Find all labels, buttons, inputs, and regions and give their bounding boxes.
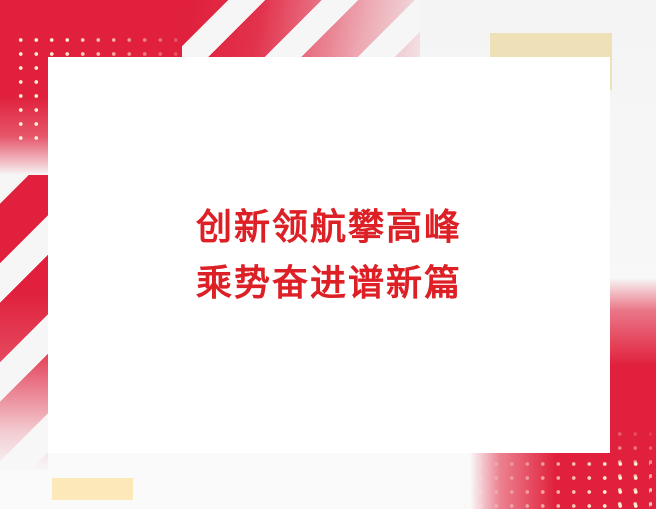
gold-chip-decoration bbox=[52, 478, 133, 500]
page-title-line-1: 创新领航攀高峰 bbox=[196, 199, 462, 255]
dot-grid-right-edge-icon bbox=[610, 425, 652, 509]
slide-canvas: 创新领航攀高峰 乘势奋进谱新篇 bbox=[0, 0, 656, 509]
content-card: 创新领航攀高峰 乘势奋进谱新篇 bbox=[48, 57, 610, 453]
page-title-line-2: 乘势奋进谱新篇 bbox=[196, 255, 462, 311]
content-card-inner: 创新领航攀高峰 乘势奋进谱新篇 bbox=[48, 57, 610, 453]
